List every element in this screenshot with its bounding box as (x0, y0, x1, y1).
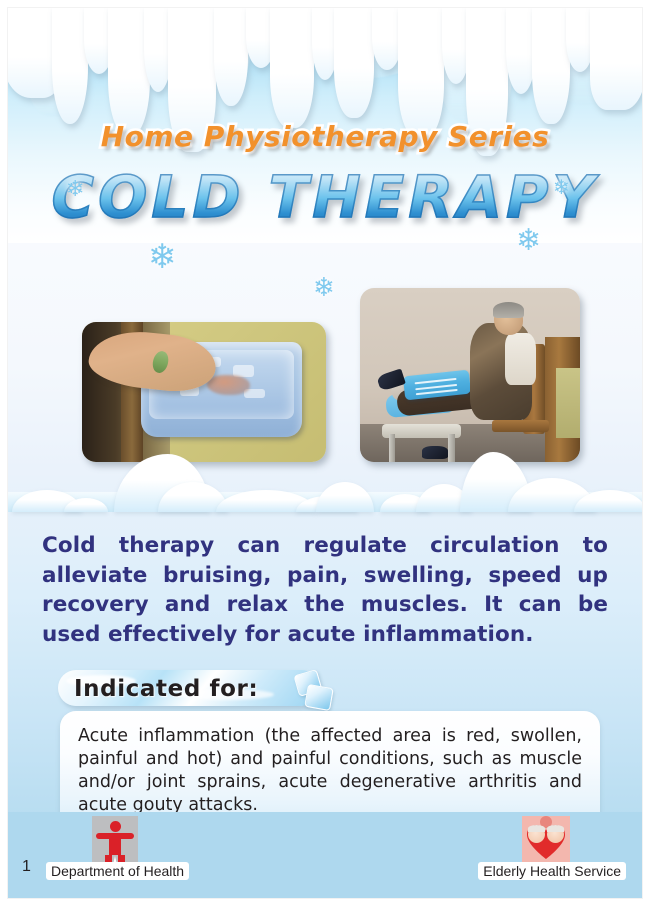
ehs-elder-hair-left (528, 825, 545, 832)
snow-lump (316, 482, 374, 512)
indicated-for-banner: Indicated for: (58, 670, 333, 708)
photo2-cold-pack-stripe (415, 389, 457, 395)
leaflet-card: Home Physiotherapy Series COLD THERAPY ❄… (8, 8, 642, 898)
icicle-shape (398, 8, 444, 138)
snowflake-icon: ❄ (516, 226, 541, 256)
snowflake-icon: ❄ (313, 274, 335, 300)
photo-cold-pack-on-knee (360, 288, 580, 462)
photo2-cabinet (556, 368, 580, 438)
ehs-elder-hair-right (547, 825, 564, 832)
doh-figure-head (110, 821, 121, 832)
main-title: COLD THERAPY (8, 163, 642, 231)
indicated-for-heading: Indicated for: (74, 676, 258, 702)
footer-bar: 1 Department of Health Elderly Health Se… (8, 812, 642, 898)
icicle-shape (214, 8, 248, 106)
snowflake-icon: ❄ (66, 178, 84, 200)
icicle-shape (590, 8, 642, 110)
photo2-chair-seat (492, 420, 549, 432)
series-title: Home Physiotherapy Series (8, 120, 642, 153)
elderly-health-service-logo-icon (522, 816, 570, 868)
photo2-person-shirt (505, 333, 536, 385)
icicle-shape (334, 8, 374, 118)
department-of-health-logo-icon (92, 816, 138, 868)
intro-paragraph: Cold therapy can regulate circulation to… (42, 531, 608, 649)
department-of-health-label: Department of Health (46, 862, 189, 880)
photo2-person-hair (493, 302, 524, 318)
snow-drift-band (8, 440, 642, 512)
elderly-health-service-label: Elderly Health Service (478, 862, 626, 880)
indicated-for-body-text: Acute inflammation (the affected area is… (78, 725, 582, 817)
snowflake-icon: ❄ (553, 178, 570, 198)
icicle-decoration-layer (8, 8, 642, 308)
icicle-shape (532, 8, 570, 124)
icicle-shape (52, 8, 88, 124)
icicle-shape (270, 8, 314, 128)
ice-cube-icon (304, 684, 334, 711)
leaflet-page: Home Physiotherapy Series COLD THERAPY ❄… (0, 0, 650, 914)
photo1-hand (207, 375, 250, 396)
page-number: 1 (22, 858, 31, 876)
snowflake-icon: ❄ (148, 240, 177, 274)
